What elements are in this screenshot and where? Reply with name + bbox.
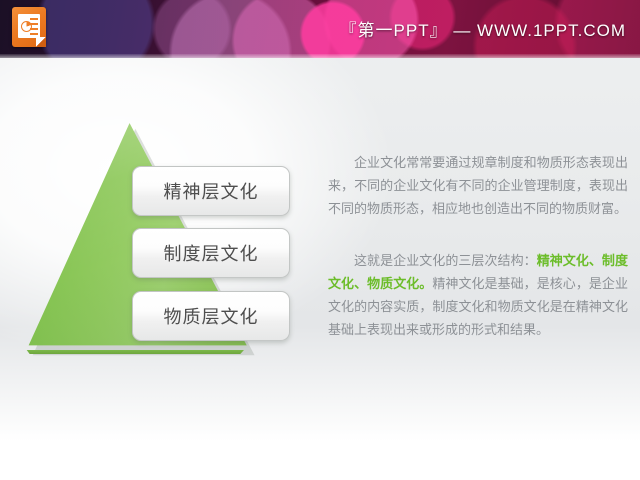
header-banner: 『第一PPT』 — WWW.1PPT.COM xyxy=(0,0,640,58)
icon-glyph xyxy=(18,14,40,38)
paragraph-text: 这就是企业文化的三层次结构：精神文化、制度文化、物质文化。精神文化是基础，是核心… xyxy=(328,250,628,342)
header-title: 『第一PPT』 — WWW.1PPT.COM xyxy=(340,16,626,41)
icon-line xyxy=(30,33,38,35)
icon-line xyxy=(30,28,38,30)
pyramid-level-label: 精神层文化 xyxy=(164,178,259,204)
footer-bar: 第一PPT HTTP://WWW.1PPT.COM xyxy=(0,430,640,480)
pyramid-level-box-3[interactable]: 物质层文化 xyxy=(132,291,290,341)
pyramid-level-label: 物质层文化 xyxy=(164,303,259,329)
header-sheen xyxy=(0,54,640,58)
body-paragraph-2: 这就是企业文化的三层次结构：精神文化、制度文化、物质文化。精神文化是基础，是核心… xyxy=(328,250,628,342)
pyramid-level-box-2[interactable]: 制度层文化 xyxy=(132,228,290,278)
paragraph-text: 企业文化常常要通过规章制度和物质形态表现出来，不同的企业文化有不同的企业管理制度… xyxy=(328,152,628,221)
pyramid-level-box-1[interactable]: 精神层文化 xyxy=(132,166,290,216)
powerpoint-document-icon xyxy=(8,5,48,49)
pyramid-level-label: 制度层文化 xyxy=(164,240,259,266)
icon-page-fold xyxy=(36,37,46,47)
slide-canvas: 『第一PPT』 — WWW.1PPT.COM 精神层文化 制度层文化 物质层文化… xyxy=(0,0,640,480)
paragraph-lead: 这就是企业文化的三层次结构： xyxy=(354,254,537,269)
pyramid-base-edge xyxy=(26,350,254,354)
icon-line xyxy=(30,18,38,20)
icon-line xyxy=(30,23,38,25)
body-paragraph-1: 企业文化常常要通过规章制度和物质形态表现出来，不同的企业文化有不同的企业管理制度… xyxy=(328,152,628,221)
